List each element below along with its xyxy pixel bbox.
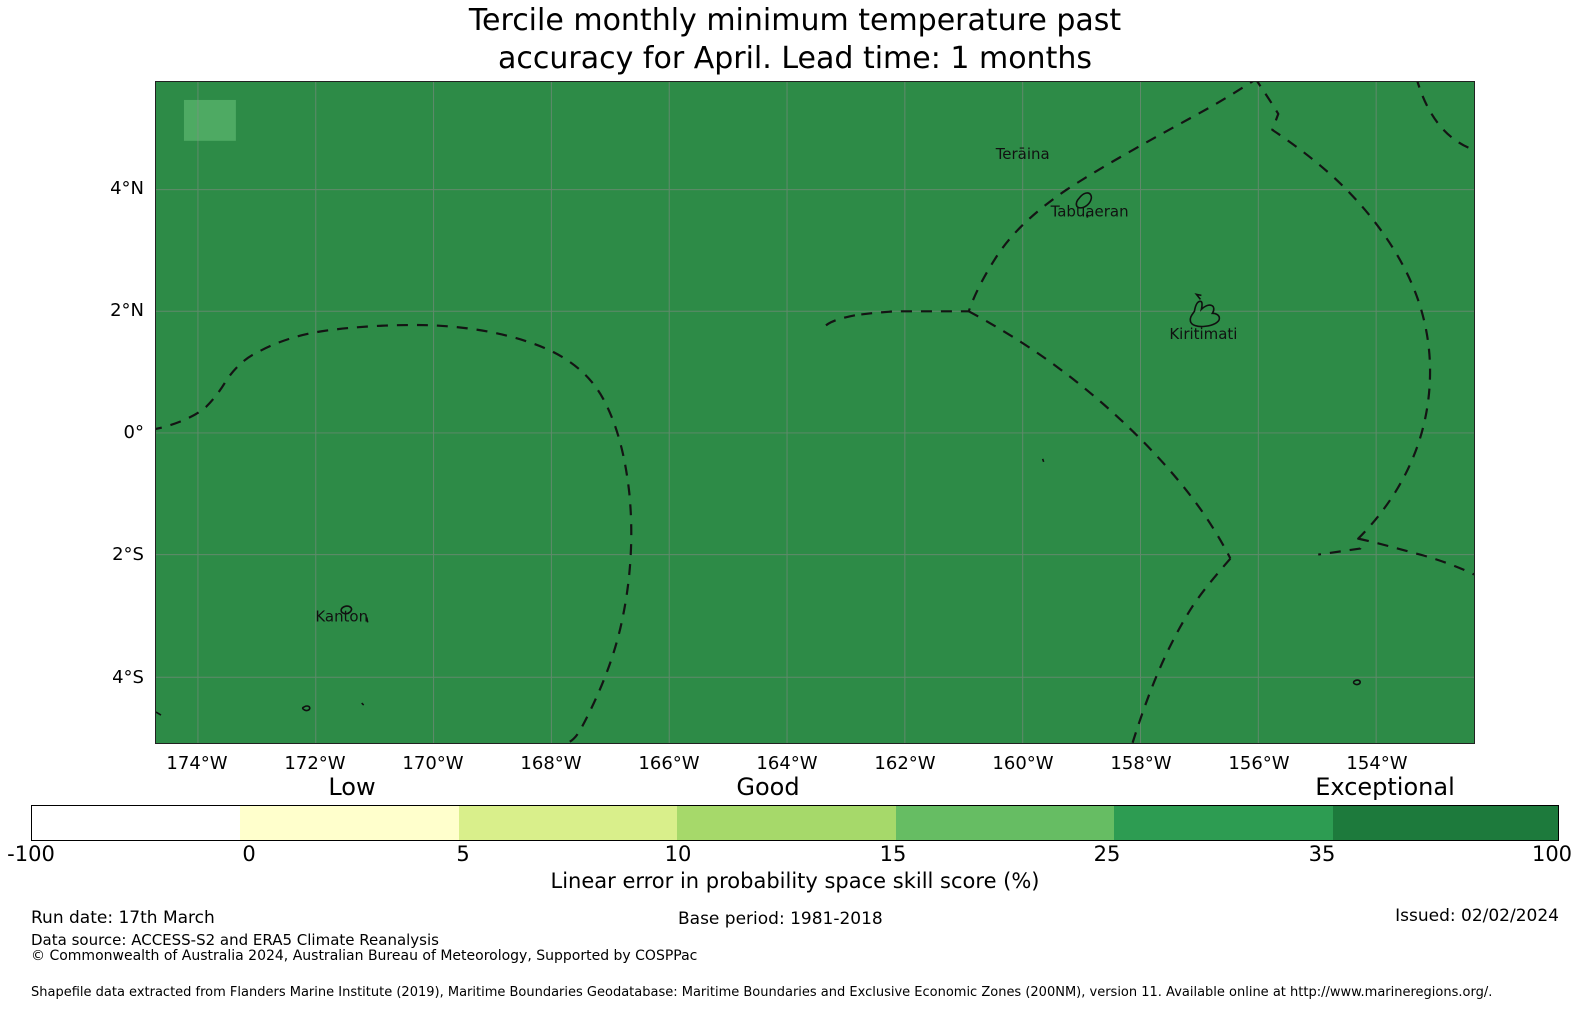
y-tick-label: 4°S: [60, 667, 144, 688]
colorbar-segment-5-10: [459, 806, 677, 840]
eez-boundary-lines: [156, 82, 1474, 743]
skill-cell-highlight: [184, 100, 236, 141]
x-tick-label: 158°W: [1096, 753, 1186, 774]
colorbar-tick-label: 25: [1047, 842, 1167, 866]
shapefile-attribution-text: Shapefile data extracted from Flanders M…: [31, 985, 1492, 1000]
page-title: Tercile monthly minimum temperature past…: [0, 2, 1590, 78]
colorbar-category-good: Good: [618, 773, 918, 801]
x-tick-label: 170°W: [388, 753, 478, 774]
colorbar-segment-10-15: [677, 806, 895, 840]
x-tick-label: 166°W: [624, 753, 714, 774]
x-tick-label: 156°W: [1214, 753, 1304, 774]
x-tick-label: 154°W: [1332, 753, 1422, 774]
map-label-tabuaeran: Tabuaeran: [1050, 203, 1129, 221]
map-plot-area[interactable]: Terāina Tabuaeran Kiritimati Kanton: [155, 81, 1475, 744]
run-date-text: Run date: 17th March: [31, 908, 215, 928]
colorbar-tick-label: 15: [833, 842, 953, 866]
y-tick-label: 0°: [60, 422, 144, 443]
copyright-text: © Commonwealth of Australia 2024, Austra…: [31, 948, 697, 964]
colorbar-segment-15-25: [896, 806, 1114, 840]
colorbar-tick-label: 100: [1492, 842, 1590, 866]
map-gridlines: [156, 82, 1474, 743]
colorbar-tick-label: 5: [403, 842, 523, 866]
map-label-kiritimati: Kiritimati: [1169, 325, 1237, 343]
y-tick-label: 2°N: [60, 300, 144, 321]
x-tick-label: 172°W: [270, 753, 360, 774]
y-tick-label: 2°S: [60, 544, 144, 565]
y-tick-label: 4°N: [60, 178, 144, 199]
map-label-teraina: Terāina: [995, 145, 1050, 163]
colorbar-segment-25-35: [1114, 806, 1332, 840]
colorbar-tick-label: 0: [189, 842, 309, 866]
colorbar-category-exceptional: Exceptional: [1235, 773, 1535, 801]
colorbar-axis-label: Linear error in probability space skill …: [0, 869, 1590, 893]
colorbar-tick-label: 35: [1262, 842, 1382, 866]
colorbar-segment-neg100-0: [32, 806, 240, 840]
x-tick-label: 162°W: [860, 753, 950, 774]
x-tick-label: 174°W: [152, 753, 242, 774]
island-outlines: [156, 193, 1360, 715]
colorbar-category-low: Low: [202, 773, 502, 801]
issued-date-text: Issued: 02/02/2024: [1395, 906, 1559, 926]
colorbar[interactable]: [31, 805, 1559, 841]
x-tick-label: 168°W: [506, 753, 596, 774]
colorbar-segment-35-100: [1333, 806, 1558, 840]
x-tick-label: 160°W: [978, 753, 1068, 774]
x-tick-label: 164°W: [742, 753, 832, 774]
colorbar-tick-label: -100: [0, 842, 91, 866]
map-canvas: Terāina Tabuaeran Kiritimati Kanton: [156, 82, 1474, 743]
colorbar-tick-label: 10: [618, 842, 738, 866]
base-period-text: Base period: 1981-2018: [678, 909, 883, 929]
data-source-text: Data source: ACCESS-S2 and ERA5 Climate …: [31, 931, 439, 949]
colorbar-segment-0-5: [240, 806, 458, 840]
map-label-kanton: Kanton: [315, 607, 368, 625]
